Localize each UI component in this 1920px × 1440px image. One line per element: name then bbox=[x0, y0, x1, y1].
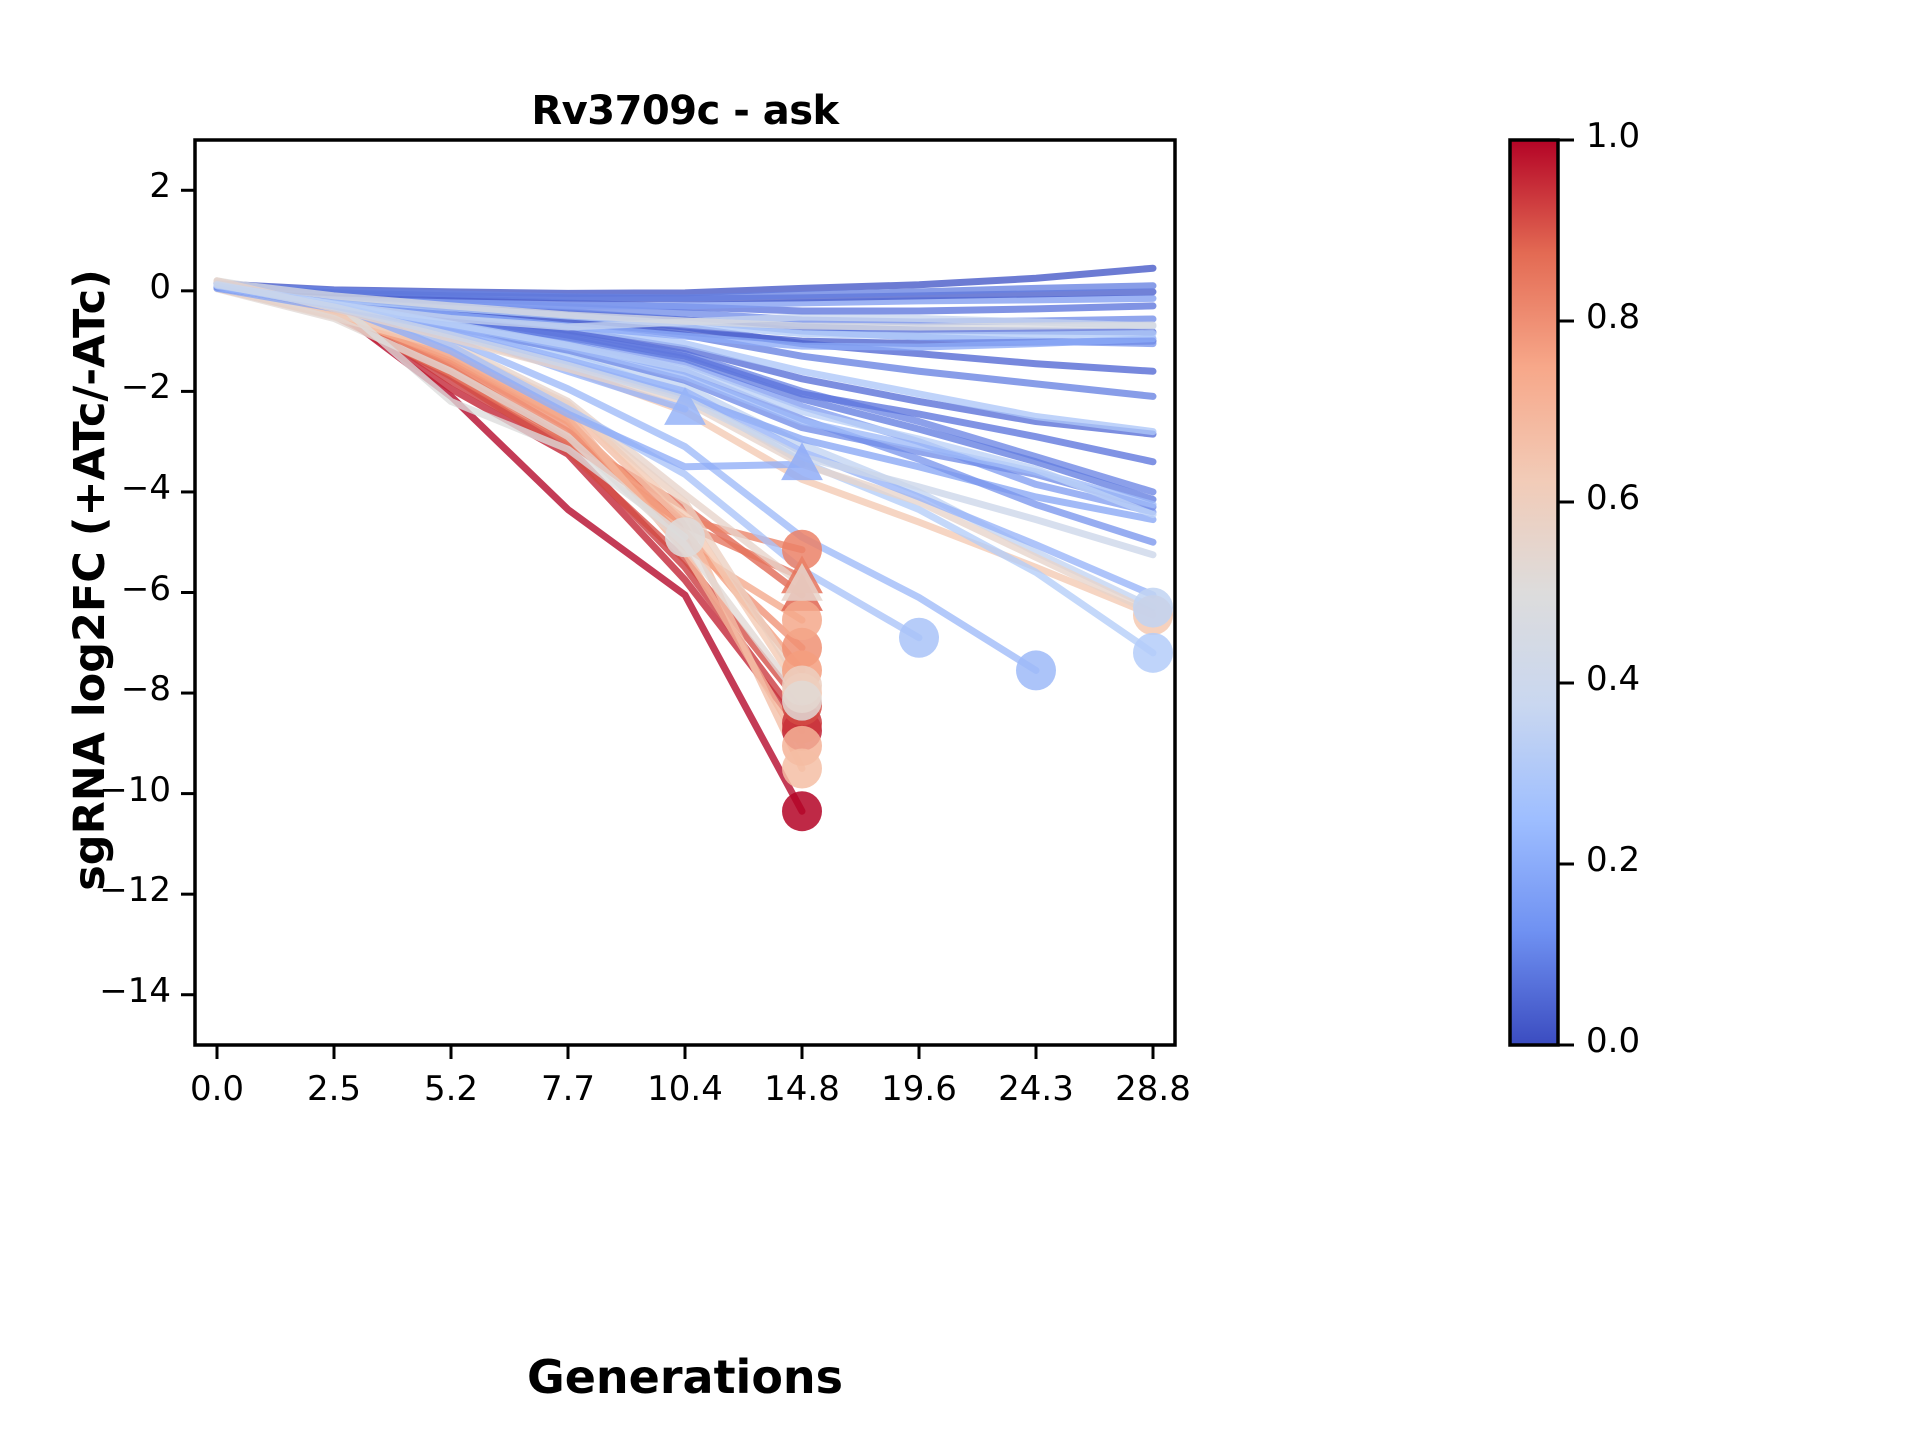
colorbar-tick-label: 1.0 bbox=[1586, 116, 1640, 156]
colorbar-tick-label: 0.4 bbox=[1586, 659, 1640, 699]
series-marker-circle bbox=[782, 748, 822, 788]
y-tick-label: 0 bbox=[0, 267, 171, 307]
colorbar-ticks bbox=[1558, 140, 1574, 1045]
colorbar-tick-label: 0.2 bbox=[1586, 840, 1640, 880]
series-marker-circle bbox=[782, 600, 822, 640]
colorbar-tick-label: 0.6 bbox=[1586, 478, 1640, 518]
y-tick-label: −10 bbox=[0, 770, 171, 810]
y-tick-label: −6 bbox=[0, 569, 171, 609]
colorbar-tick-label: 0.8 bbox=[1586, 297, 1640, 337]
y-tick-label: −4 bbox=[0, 468, 171, 508]
series-marker-circle bbox=[1133, 588, 1173, 628]
x-tick-label: 28.8 bbox=[1063, 1069, 1243, 1109]
y-tick-label: −2 bbox=[0, 367, 171, 407]
series-marker-circle bbox=[1016, 650, 1056, 690]
colorbar-tick-label: 0.0 bbox=[1586, 1021, 1640, 1061]
x-axis-label: Generations bbox=[195, 1350, 1175, 1404]
series-marker-circle bbox=[665, 517, 705, 557]
series-marker-circle bbox=[1133, 633, 1173, 673]
series-marker-circle bbox=[782, 791, 822, 831]
plot-canvas bbox=[0, 0, 1920, 1440]
series-marker-circle bbox=[782, 681, 822, 721]
series-marker-circle bbox=[899, 618, 939, 658]
y-tick-label: −8 bbox=[0, 669, 171, 709]
y-tick-label: −12 bbox=[0, 870, 171, 910]
y-tick-label: 2 bbox=[0, 166, 171, 206]
chart-figure: Rv3709c - ask bbox=[0, 0, 1920, 1440]
colorbar bbox=[1510, 140, 1558, 1045]
y-tick-label: −14 bbox=[0, 971, 171, 1011]
